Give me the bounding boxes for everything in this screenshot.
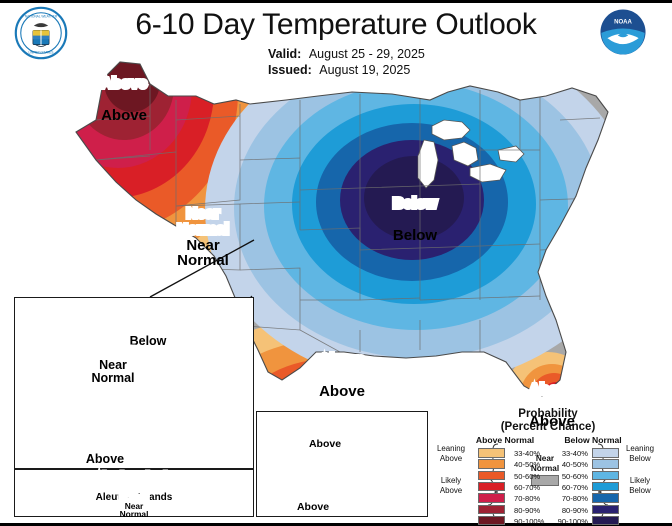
legend-swatch xyxy=(478,471,505,481)
legend-range-label: 80-90% xyxy=(554,506,588,515)
alaska-label-near-normal: Near Normal Near Normal xyxy=(78,333,148,386)
legend-swatch xyxy=(478,505,505,515)
legend-bracket-leaning-below: Leaning Below xyxy=(612,444,668,463)
issued-value: August 19, 2025 xyxy=(319,62,410,78)
hawaii-label-above-top: Above Above xyxy=(298,417,352,450)
legend-bracket-likely-above: Likely Above xyxy=(425,476,477,495)
legend-swatch xyxy=(592,471,619,481)
legend-swatch xyxy=(592,459,619,469)
map-label-near-normal: Near Normal Near Normal xyxy=(160,206,246,269)
map-label-below: Below Below xyxy=(380,196,450,243)
legend-range-label: 90-100% xyxy=(514,517,548,526)
legend-swatch xyxy=(478,493,505,503)
hawaii-label-above-bottom: Above Above xyxy=(286,480,340,513)
legend-range-label: 33-40% xyxy=(514,449,548,458)
legend-title: Probability (Percent Chance) xyxy=(430,408,666,434)
probability-legend: Probability (Percent Chance) Above Norma… xyxy=(430,408,666,524)
aleutian-label-near-normal: Near Normal Near Normal xyxy=(110,484,158,519)
legend-swatch xyxy=(592,448,619,458)
legend-bracket-leaning-above: Leaning Above xyxy=(425,444,477,463)
legend-range-label: 60-70% xyxy=(554,483,588,492)
legend-range-label: 80-90% xyxy=(514,506,548,515)
legend-range-label: 50-60% xyxy=(514,472,548,481)
legend-range-label: 40-50% xyxy=(514,460,548,469)
legend-range-label: 50-60% xyxy=(554,472,588,481)
map-label-south: Above Above xyxy=(304,352,380,399)
legend-range-label: 33-40% xyxy=(554,449,588,458)
legend-swatch xyxy=(478,482,505,492)
validity-dates: Valid: August 25 - 29, 2025 Issued: Augu… xyxy=(268,46,425,78)
legend-swatch xyxy=(478,448,505,458)
legend-title-line2: (Percent Chance) xyxy=(430,421,666,434)
issued-label: Issued: xyxy=(268,62,312,78)
legend-swatch xyxy=(592,505,619,515)
legend-range-label: 40-50% xyxy=(554,460,588,469)
legend-swatch xyxy=(592,493,619,503)
legend-range-label: 70-80% xyxy=(514,494,548,503)
valid-value: August 25 - 29, 2025 xyxy=(309,46,425,62)
map-label-northwest: Above Above xyxy=(86,76,162,123)
legend-swatch xyxy=(478,516,505,526)
valid-label: Valid: xyxy=(268,46,301,62)
legend-range-label: 70-80% xyxy=(554,494,588,503)
legend-title-line1: Probability xyxy=(430,408,666,421)
alaska-label-above: Above Above xyxy=(72,427,138,466)
outlook-map-page: NATIONAL WEATHER UNITED STATES NOAA 6-10… xyxy=(0,0,672,526)
legend-range-label: 60-70% xyxy=(514,483,548,492)
legend-bracket-likely-below: Likely Below xyxy=(612,476,668,495)
legend-swatch xyxy=(592,516,619,526)
svg-text:UNITED STATES: UNITED STATES xyxy=(29,51,54,55)
page-title: 6-10 Day Temperature Outlook xyxy=(0,8,672,42)
legend-range-label: 90-100% xyxy=(554,517,588,526)
legend-swatch xyxy=(478,459,505,469)
legend-swatch xyxy=(592,482,619,492)
